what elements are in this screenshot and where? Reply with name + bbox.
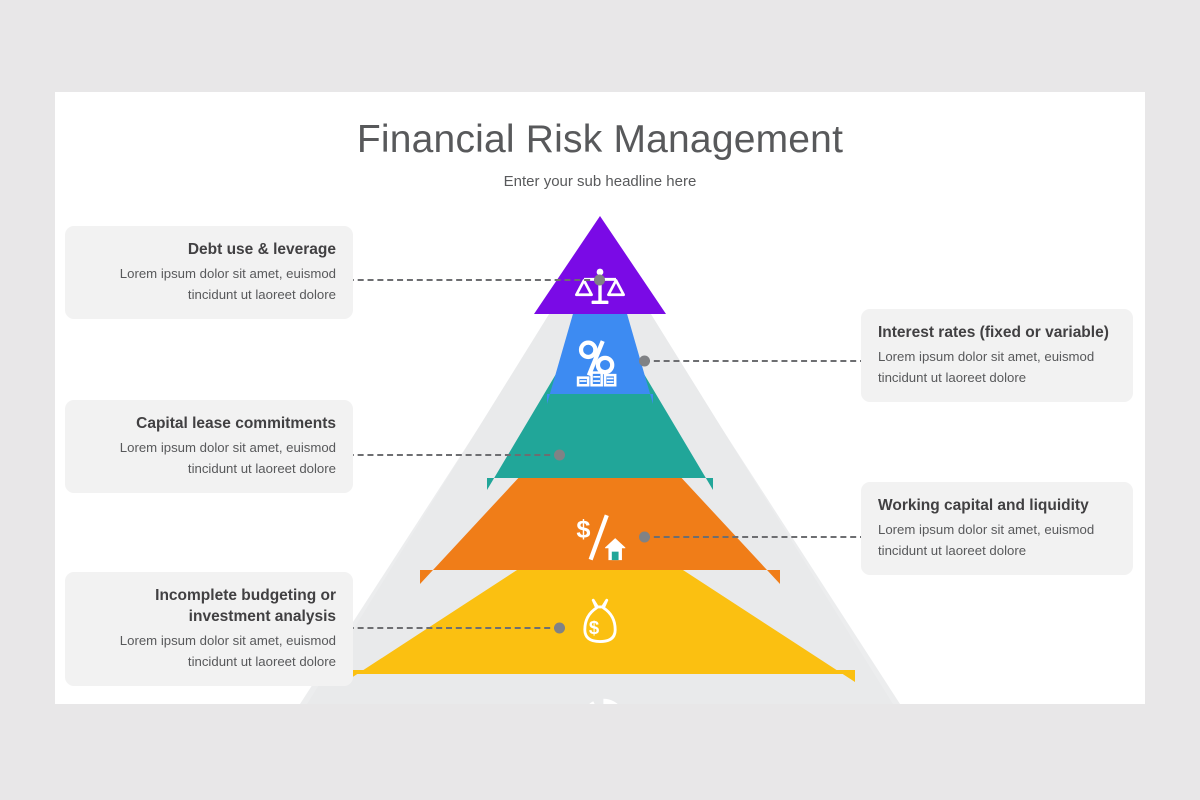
connector-dot <box>554 450 565 461</box>
connector-line-tier-3 <box>338 454 560 456</box>
slide-canvas: Financial Risk Management Enter your sub… <box>55 92 1145 704</box>
connector-line-tier-1 <box>338 279 600 281</box>
connector-dash <box>644 360 866 362</box>
info-card-description: Lorem ipsum dolor sit amet, euismod tinc… <box>82 263 336 305</box>
connector-dash <box>338 454 560 456</box>
connector-line-tier-5 <box>338 627 560 629</box>
pyramid-tier-1[interactable] <box>534 216 666 314</box>
info-card-tier-4[interactable]: Working capital and liquidity Lorem ipsu… <box>861 482 1133 575</box>
connector-line-tier-2 <box>644 360 866 362</box>
connector-dot <box>554 623 565 634</box>
connector-dot <box>639 532 650 543</box>
info-card-description: Lorem ipsum dolor sit amet, euismod tinc… <box>878 346 1116 388</box>
connector-line-tier-4 <box>644 536 866 538</box>
connector-dash <box>338 627 560 629</box>
info-card-title: Incomplete budgeting or investment analy… <box>82 586 336 628</box>
info-card-tier-1[interactable]: Debt use & leverage Lorem ipsum dolor si… <box>65 226 353 319</box>
connector-dot <box>594 275 605 286</box>
info-card-description: Lorem ipsum dolor sit amet, euismod tinc… <box>82 630 336 672</box>
info-card-title: Debt use & leverage <box>82 240 336 261</box>
info-card-tier-3[interactable]: Capital lease commitments Lorem ipsum do… <box>65 400 353 493</box>
connector-dash <box>338 279 600 281</box>
connector-dot <box>639 356 650 367</box>
info-card-title: Capital lease commitments <box>82 414 336 435</box>
info-card-tier-2[interactable]: Interest rates (fixed or variable) Lorem… <box>861 309 1133 402</box>
info-card-title: Working capital and liquidity <box>878 496 1116 517</box>
info-card-description: Lorem ipsum dolor sit amet, euismod tinc… <box>878 519 1116 561</box>
info-card-description: Lorem ipsum dolor sit amet, euismod tinc… <box>82 437 336 479</box>
info-card-title: Interest rates (fixed or variable) <box>878 323 1116 344</box>
info-card-tier-5[interactable]: Incomplete budgeting or investment analy… <box>65 572 353 686</box>
connector-dash <box>644 536 866 538</box>
